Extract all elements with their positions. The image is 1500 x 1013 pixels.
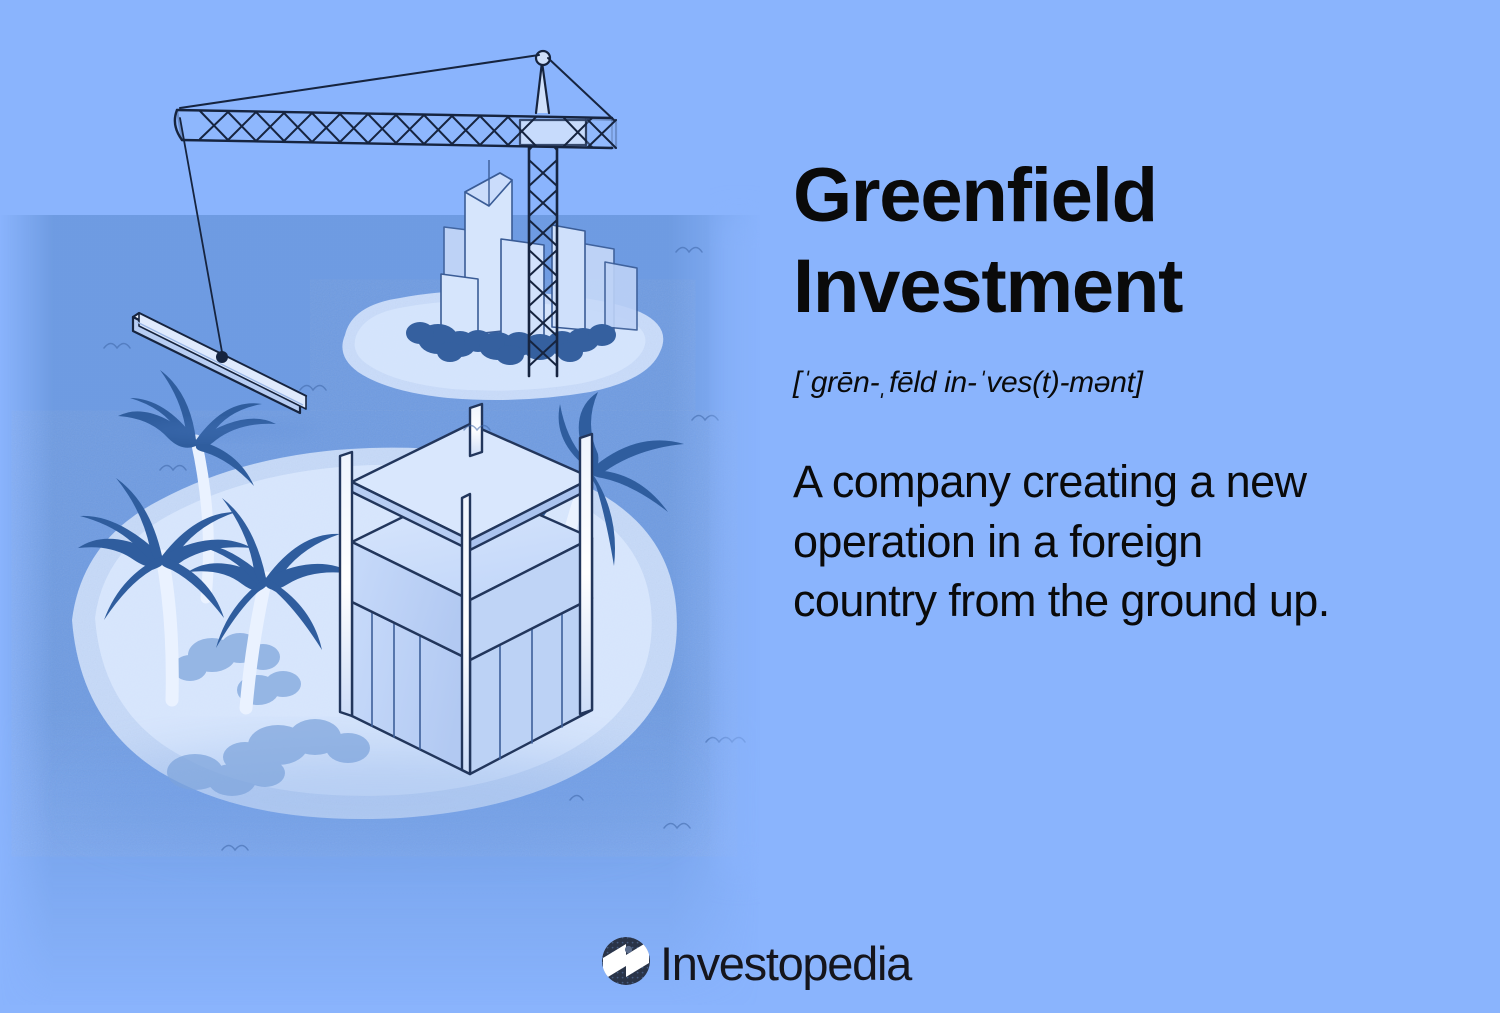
infographic-card: GreenfieldInvestment [ˈgrēn-ˌfēld in-ˈve…	[0, 0, 1500, 1013]
ocean-edge-fade	[718, 215, 760, 875]
definition-text: A company creating a new operation in a …	[793, 452, 1338, 630]
crane-counter-jib	[586, 119, 616, 148]
pronunciation: [ˈgrēn-ˌfēld in-ˈves(t)-mənt]	[793, 366, 1393, 400]
investopedia-mark-icon	[601, 936, 651, 991]
illustration-svg	[0, 0, 760, 1013]
investopedia-logo[interactable]: Investopedia	[601, 936, 911, 991]
investopedia-wordmark: Investopedia	[660, 940, 911, 987]
page-title: GreenfieldInvestment	[793, 150, 1393, 332]
island-shadow	[80, 748, 680, 852]
title-line-1: Greenfield	[793, 153, 1157, 238]
title-line-2: Investment	[793, 244, 1182, 329]
illustration-panel	[0, 0, 760, 1013]
text-column: GreenfieldInvestment [ˈgrēn-ˌfēld in-ˈve…	[793, 150, 1393, 631]
